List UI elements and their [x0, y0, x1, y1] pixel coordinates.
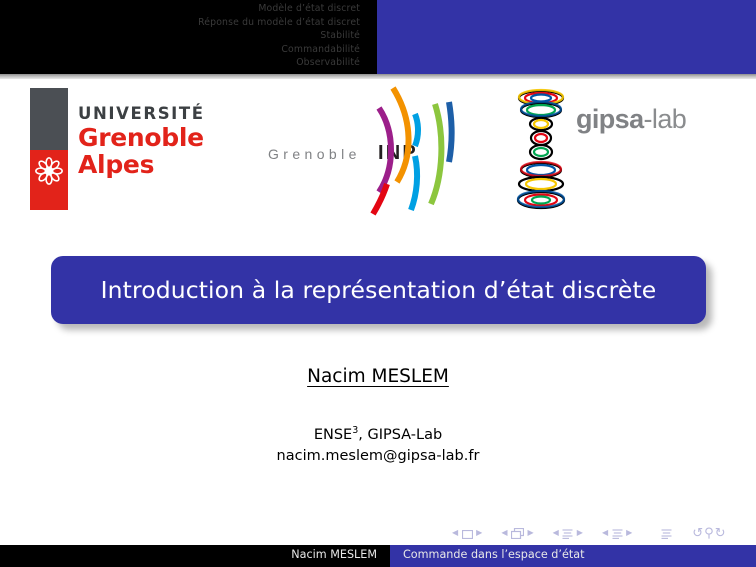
header-nav-item-4[interactable]: Observabilité — [198, 56, 360, 70]
nav-group-zoom[interactable]: ↺ ⚲ ↻ — [692, 526, 725, 541]
uga-rosette-icon — [33, 155, 65, 187]
slide-footer: Nacim MESLEM Commande dans l’espace d’ét… — [0, 545, 756, 567]
header-section-nav[interactable]: Modèle d’état discret Réponse du modèle … — [198, 2, 360, 70]
gipsa-wordmark: gipsa-lab — [576, 104, 686, 135]
header-nav-item-3[interactable]: Commandabilité — [198, 43, 360, 57]
lines-icon[interactable] — [661, 524, 672, 543]
beamer-navigation-strip[interactable]: ◀ ▶ ◀ ▶ ◀ ▶ — [452, 524, 742, 542]
presentation-title: Introduction à la représentation d’état … — [101, 276, 657, 304]
prev-triangle-icon[interactable]: ◀ — [602, 529, 608, 537]
prev-triangle-icon[interactable]: ◀ — [553, 529, 559, 537]
nav-group-frame[interactable]: ◀ ▶ — [501, 524, 533, 543]
footer-section-title: Commande dans l’espace d’état — [403, 548, 584, 561]
author-name-row: Nacim MESLEM — [0, 366, 756, 387]
header-nav-item-0[interactable]: Modèle d’état discret — [198, 2, 360, 16]
lines-icon[interactable] — [562, 524, 573, 543]
next-triangle-icon[interactable]: ▶ — [476, 529, 482, 537]
author-affiliation: ENSE3, GIPSA-Lab — [0, 420, 756, 446]
magnifier-icon[interactable]: ⚲ — [704, 526, 714, 541]
lines-icon[interactable] — [612, 524, 623, 543]
presentation-title-box: Introduction à la représentation d’état … — [51, 256, 706, 324]
header-nav-item-1[interactable]: Réponse du modèle d’état discret — [198, 16, 360, 30]
header-divider — [0, 74, 756, 79]
header-right-panel — [377, 0, 756, 74]
nav-group-slide[interactable]: ◀ ▶ — [452, 524, 482, 543]
universite-grenoble-alpes-logo: UNIVERSITÉ Grenoble Alpes — [28, 84, 218, 216]
cascade-frames-icon[interactable] — [511, 524, 524, 543]
gipsa-lab-logo: gipsa-lab — [510, 84, 730, 216]
nav-group-section[interactable]: ◀ ▶ — [602, 524, 632, 543]
footer-author: Nacim MESLEM — [291, 548, 377, 561]
prev-triangle-icon[interactable]: ◀ — [452, 529, 458, 537]
footer-left-panel: Nacim MESLEM — [0, 545, 390, 567]
uga-line-grenoble: Grenoble — [78, 125, 205, 150]
footer-right-panel: Commande dans l’espace d’état — [390, 545, 756, 567]
uga-line-alpes: Alpes — [78, 152, 205, 177]
next-triangle-icon[interactable]: ▶ — [577, 529, 583, 537]
back-arrow-icon[interactable]: ↺ — [692, 526, 703, 541]
frame-icon[interactable] — [462, 524, 473, 543]
gipsa-tower-icon — [510, 88, 572, 210]
uga-gray-block-icon — [30, 88, 68, 150]
author-email: nacim.meslem@gipsa-lab.fr — [0, 446, 756, 467]
slide-header: Modèle d’état discret Réponse du modèle … — [0, 0, 756, 74]
inp-wordmark-grenoble: Grenoble — [268, 146, 361, 162]
next-triangle-icon[interactable]: ▶ — [626, 529, 632, 537]
uga-wordmark: UNIVERSITÉ Grenoble Alpes — [78, 106, 205, 177]
author-block: Nacim MESLEM ENSE3, GIPSA-Lab nacim.mesl… — [0, 366, 756, 467]
logo-row: UNIVERSITÉ Grenoble Alpes Grenoble INP — [0, 84, 756, 216]
gipsa-wordmark-light: -lab — [644, 104, 687, 134]
nav-group-subsection[interactable]: ◀ ▶ — [553, 524, 583, 543]
inp-arcs-icon — [357, 84, 455, 216]
grenoble-inp-logo: Grenoble INP — [265, 84, 455, 216]
next-triangle-icon[interactable]: ▶ — [527, 529, 533, 537]
header-left-panel: Modèle d’état discret Réponse du modèle … — [0, 0, 377, 74]
gipsa-wordmark-bold: gipsa — [576, 104, 644, 134]
affiliation-suffix: , GIPSA-Lab — [358, 427, 442, 443]
affiliation-prefix: ENSE — [314, 427, 352, 443]
uga-line-universite: UNIVERSITÉ — [78, 106, 205, 123]
author-name: Nacim MESLEM — [307, 366, 449, 387]
prev-triangle-icon[interactable]: ◀ — [501, 529, 507, 537]
header-nav-item-2[interactable]: Stabilité — [198, 29, 360, 43]
forward-arrow-icon[interactable]: ↻ — [715, 526, 726, 541]
